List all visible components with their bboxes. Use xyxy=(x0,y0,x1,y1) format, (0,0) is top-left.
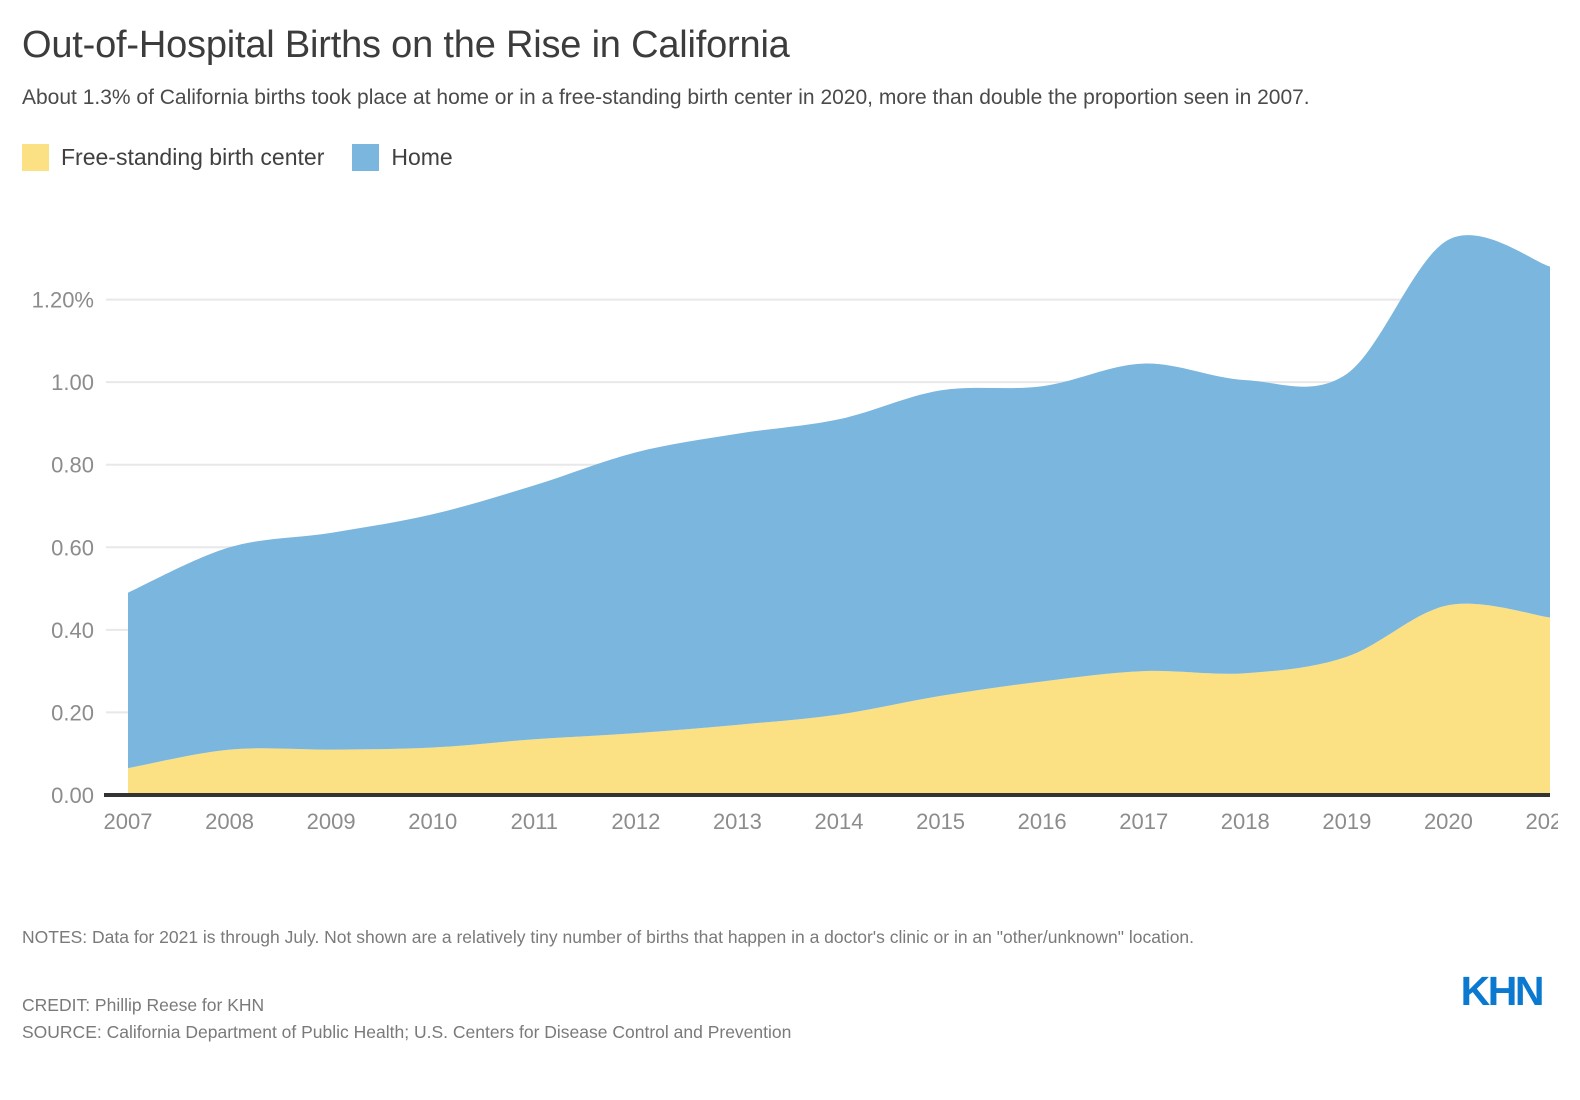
y-tick-label: 0.40 xyxy=(51,618,94,643)
page-title: Out-of-Hospital Births on the Rise in Ca… xyxy=(22,0,1558,68)
x-tick-label: 2021 xyxy=(1526,809,1558,834)
legend-label-free-standing: Free-standing birth center xyxy=(61,144,324,171)
x-tick-label: 2013 xyxy=(713,809,762,834)
y-tick-label: 1.00 xyxy=(51,370,94,395)
chart-svg: 0.000.200.400.600.801.001.20% 2007200820… xyxy=(22,187,1558,847)
x-tick-label: 2017 xyxy=(1119,809,1168,834)
y-tick-label: 0.60 xyxy=(51,535,94,560)
khn-logo: KHN xyxy=(1461,968,1542,1015)
footer-notes: NOTES: Data for 2021 is through July. No… xyxy=(22,925,1442,950)
x-tick-label: 2018 xyxy=(1221,809,1270,834)
legend-swatch-icon-home xyxy=(352,144,379,171)
chart-subtitle: About 1.3% of California births took pla… xyxy=(22,84,1442,113)
footer-credit: CREDIT: Phillip Reese for KHN xyxy=(22,992,1442,1018)
footer-source: SOURCE: California Department of Public … xyxy=(22,1019,1442,1045)
credit-block: CREDIT: Phillip Reese for KHN SOURCE: Ca… xyxy=(22,992,1442,1045)
legend-swatch-icon-free-standing xyxy=(22,144,49,171)
y-tick-label: 0.80 xyxy=(51,452,94,477)
legend-label-home: Home xyxy=(391,144,452,171)
chart-page: Out-of-Hospital Births on the Rise in Ca… xyxy=(0,0,1580,1100)
legend-item-home[interactable]: Home xyxy=(352,144,452,171)
y-tick-label: 0.00 xyxy=(51,783,94,808)
x-axis-tick-labels: 2007200820092010201120122013201420152016… xyxy=(104,809,1558,834)
y-tick-label: 0.20 xyxy=(51,700,94,725)
x-tick-label: 2011 xyxy=(511,809,558,834)
x-tick-label: 2012 xyxy=(611,809,660,834)
y-axis-tick-labels: 0.000.200.400.600.801.001.20% xyxy=(32,287,94,807)
x-tick-label: 2016 xyxy=(1018,809,1067,834)
x-tick-label: 2009 xyxy=(307,809,356,834)
legend-item-free-standing-birth-center[interactable]: Free-standing birth center xyxy=(22,144,324,171)
x-tick-label: 2014 xyxy=(815,809,864,834)
x-tick-label: 2010 xyxy=(408,809,457,834)
chart-footer: NOTES: Data for 2021 is through July. No… xyxy=(22,925,1442,1045)
x-tick-label: 2007 xyxy=(104,809,153,834)
x-tick-label: 2015 xyxy=(916,809,965,834)
area-series-group xyxy=(128,235,1550,795)
x-tick-label: 2008 xyxy=(205,809,254,834)
x-tick-label: 2020 xyxy=(1424,809,1473,834)
x-tick-label: 2019 xyxy=(1322,809,1371,834)
chart-legend: Free-standing birth center Home xyxy=(22,143,1558,173)
y-tick-label: 1.20% xyxy=(32,287,94,312)
stacked-area-chart: 0.000.200.400.600.801.001.20% 2007200820… xyxy=(22,187,1558,847)
